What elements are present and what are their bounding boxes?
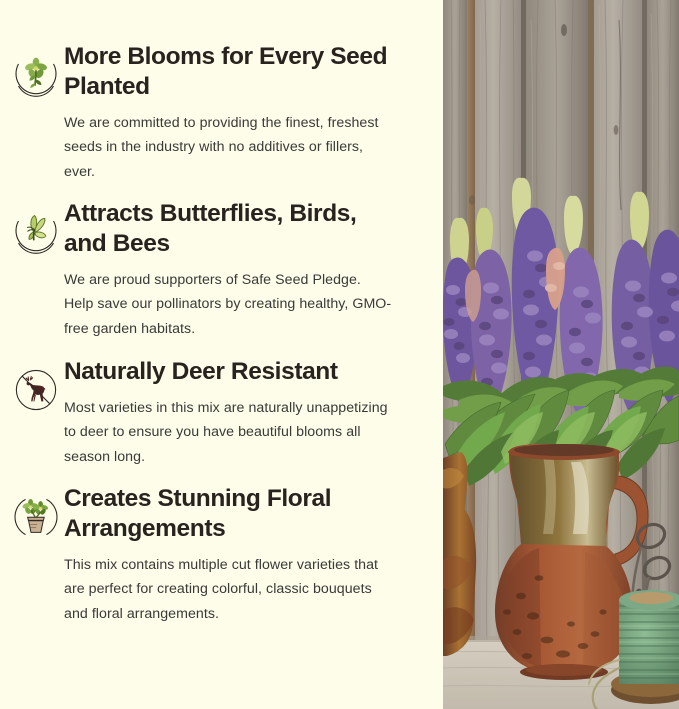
feature-title: Creates Stunning Floral Arrangements <box>64 484 403 544</box>
feature-text-block: Naturally Deer Resistant Most varieties … <box>64 357 403 469</box>
potted-plant-icon <box>8 484 64 542</box>
flower-bloom-icon <box>8 42 64 100</box>
product-feature-panel: More Blooms for Every Seed Planted We ar… <box>0 0 679 709</box>
no-deer-icon <box>8 357 64 415</box>
feature-title: Naturally Deer Resistant <box>64 357 403 387</box>
butterfly-icon <box>8 199 64 257</box>
feature-item-floral-arrangements: Creates Stunning Floral Arrangements Thi… <box>0 484 443 626</box>
feature-item-attracts-pollinators: Attracts Butterflies, Birds, and Bees We… <box>0 199 443 341</box>
product-photo <box>443 0 679 709</box>
feature-text-block: Attracts Butterflies, Birds, and Bees We… <box>64 199 403 341</box>
feature-description: We are committed to providing the finest… <box>64 111 394 184</box>
feature-description: Most varieties in this mix are naturally… <box>64 396 394 469</box>
feature-item-deer-resistant: Naturally Deer Resistant Most varieties … <box>0 357 443 469</box>
feature-title: Attracts Butterflies, Birds, and Bees <box>64 199 403 259</box>
feature-text-block: Creates Stunning Floral Arrangements Thi… <box>64 484 403 626</box>
feature-description: We are proud supporters of Safe Seed Ple… <box>64 268 394 341</box>
feature-description: This mix contains multiple cut flower va… <box>64 553 394 626</box>
feature-title: More Blooms for Every Seed Planted <box>64 42 403 102</box>
feature-item-more-blooms: More Blooms for Every Seed Planted We ar… <box>0 42 443 184</box>
features-list: More Blooms for Every Seed Planted We ar… <box>0 0 443 709</box>
feature-text-block: More Blooms for Every Seed Planted We ar… <box>64 42 403 184</box>
